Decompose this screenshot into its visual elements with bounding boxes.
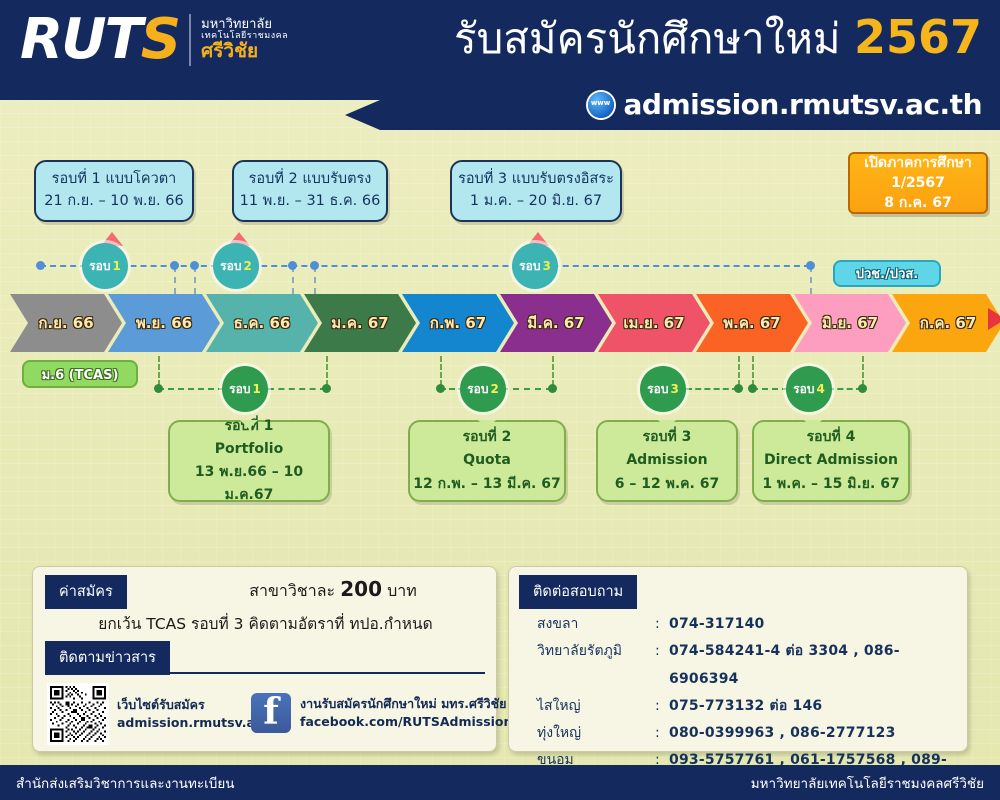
tcas-badge-round-1[interactable]: รอบ1 xyxy=(222,366,268,412)
timeline-month-7[interactable]: เม.ย. 67 xyxy=(598,294,710,352)
top-round-3-dates: 1 ม.ค. – 20 มิ.ย. 67 xyxy=(470,191,602,213)
tcas-3-dates: 6 – 12 พ.ค. 67 xyxy=(615,473,719,496)
contact-value: 075-773132 ต่อ 146 xyxy=(669,693,822,720)
tcas-box-round-1[interactable]: รอบที่ 1 Portfolio 13 พ.ย.66 – 10 ม.ค.67 xyxy=(168,420,330,502)
contact-name: วิทยาลัยรัตภูมิ xyxy=(537,638,655,693)
connector-dot-c xyxy=(288,261,297,270)
contact-name: ไสใหญ่ xyxy=(537,693,655,720)
timeline-month-label: มิ.ย. 67 xyxy=(822,311,878,335)
top-round-box-2[interactable]: รอบที่ 2 แบบรับตรง 11 พ.ย. – 31 ธ.ค. 66 xyxy=(232,160,388,222)
timeline-month-6[interactable]: มี.ค. 67 xyxy=(500,294,612,352)
tcas-badge-4-num: 4 xyxy=(816,382,824,396)
fee-line-post: บาท xyxy=(387,581,417,600)
timeline-badge-round-2[interactable]: รอบ2 xyxy=(213,243,259,289)
tcas-4-dates: 1 พ.ค. – 15 มิ.ย. 67 xyxy=(762,473,899,496)
lower-dot-2a xyxy=(436,384,445,393)
tcas-badge-4-label: รอบ xyxy=(793,380,814,399)
badge-3-num: 3 xyxy=(542,259,550,273)
month-timeline: ก.ย. 66พ.ย. 66ธ.ค. 66ม.ค. 67ก.พ. 67มี.ค.… xyxy=(10,294,990,352)
timeline-month-10[interactable]: ก.ค. 67 xyxy=(892,294,1000,352)
contact-row: ทุ่งใหญ่:080-0399963 , 086-2777123 xyxy=(537,720,957,747)
timeline-month-label: ก.ย. 66 xyxy=(38,311,93,335)
logo-wordmark: RUTS xyxy=(20,12,179,68)
fee-note: ยกเว้น TCAS รอบที่ 3 คิดตามอัตราที่ ทปอ.… xyxy=(43,611,488,636)
footer-bar: สำนักส่งเสริมวิชาการและงานทะเบียน มหาวิท… xyxy=(0,765,1000,800)
connector-drop-c xyxy=(292,266,294,294)
contact-row: ไสใหญ่:075-773132 ต่อ 146 xyxy=(537,693,957,720)
upper-connector-line xyxy=(40,265,810,267)
tcas-box-round-2[interactable]: รอบที่ 2 Quota 12 ก.พ. – 13 มี.ค. 67 xyxy=(408,420,566,502)
lower-drop-2b xyxy=(552,356,554,386)
notch-icon-3 xyxy=(658,420,676,429)
timeline-month-1[interactable]: ก.ย. 66 xyxy=(10,294,122,352)
tcas-box-round-4[interactable]: รอบที่ 4 Direct Admission 1 พ.ค. – 15 มิ… xyxy=(752,420,910,502)
news-divider xyxy=(45,672,485,674)
lower-dot-2b xyxy=(548,384,557,393)
connector-drop-b xyxy=(194,266,196,294)
semester-line-1: เปิดภาคการศึกษา xyxy=(864,153,972,173)
timeline-month-label: ม.ค. 67 xyxy=(331,311,388,335)
lower-line-1b xyxy=(268,388,326,390)
top-round-box-3[interactable]: รอบที่ 3 แบบรับตรงอิสระ 1 ม.ค. – 20 มิ.ย… xyxy=(450,160,622,222)
university-logo: RUTS มหาวิทยาลัย เทคโนโลยีราชมงคล ศรีวิช… xyxy=(20,12,288,68)
tcas-1-name: Portfolio xyxy=(215,438,283,461)
badge-1-num: 1 xyxy=(112,259,120,273)
tcas-3-title: รอบที่ 3 xyxy=(643,426,692,449)
lower-drop-1a xyxy=(158,356,160,386)
top-round-1-title: รอบที่ 1 แบบโควตา xyxy=(52,169,177,191)
semester-open-box[interactable]: เปิดภาคการศึกษา 1/2567 8 ก.ค. 67 xyxy=(848,152,988,214)
tcas-4-title: รอบที่ 4 xyxy=(807,426,856,449)
connector-dot-end xyxy=(806,261,815,270)
tcas-badge-1-label: รอบ xyxy=(229,380,250,399)
lower-dot-3a xyxy=(734,384,743,393)
tag-m6-tcas[interactable]: ม.6 (TCAS) xyxy=(22,360,138,388)
page-title: รับสมัครนักศึกษาใหม่ 2567 xyxy=(454,14,982,60)
top-round-3-title: รอบที่ 3 แบบรับตรงอิสระ xyxy=(458,169,614,191)
tcas-box-round-3[interactable]: รอบที่ 3 Admission 6 – 12 พ.ค. 67 xyxy=(596,420,738,502)
lower-dot-1a xyxy=(154,384,163,393)
lower-drop-1b xyxy=(326,356,328,386)
connector-drop-d xyxy=(314,266,316,294)
contact-colon: : xyxy=(655,693,669,720)
semester-line-2: 1/2567 xyxy=(891,173,945,193)
logo-thai-line-3: ศรีวิชัย xyxy=(201,42,288,62)
semester-line-3: 8 ก.ค. 67 xyxy=(884,193,951,213)
timeline-badge-round-3[interactable]: รอบ3 xyxy=(512,243,558,289)
fee-and-news-panel: ค่าสมัคร สาขาวิชาละ 200 บาท ยกเว้น TCAS … xyxy=(32,566,497,752)
tcas-badge-3-label: รอบ xyxy=(647,380,668,399)
lower-drop-4a xyxy=(752,356,754,386)
tcas-2-dates: 12 ก.พ. – 13 มี.ค. 67 xyxy=(413,473,560,496)
contact-value: 074-584241-4 ต่อ 3304 , 086-6906394 xyxy=(669,638,957,693)
tcas-badge-1-num: 1 xyxy=(252,382,260,396)
timeline-month-label: ก.พ. 67 xyxy=(430,311,486,335)
timeline-badge-round-1[interactable]: รอบ1 xyxy=(82,243,128,289)
tcas-badge-round-3[interactable]: รอบ3 xyxy=(640,366,686,412)
page-title-year: 2567 xyxy=(854,10,982,64)
timeline-month-3[interactable]: ธ.ค. 66 xyxy=(206,294,318,352)
contact-row: สงขลา:074-317140 xyxy=(537,611,957,638)
lower-line-4b xyxy=(828,388,862,390)
facebook-block[interactable]: งานรับสมัครนักศึกษาใหม่ มทร.ศรีวิชัย fac… xyxy=(251,693,512,733)
timeline-month-2[interactable]: พ.ย. 66 xyxy=(108,294,220,352)
admission-url[interactable]: admission.rmutsv.ac.th xyxy=(588,88,982,121)
timeline-month-8[interactable]: พ.ค. 67 xyxy=(696,294,808,352)
top-round-2-title: รอบที่ 2 แบบรับตรง xyxy=(249,169,372,191)
contact-row: วิทยาลัยรัตภูมิ:074-584241-4 ต่อ 3304 , … xyxy=(537,638,957,693)
fee-label: ค่าสมัคร xyxy=(45,575,127,609)
top-round-box-1[interactable]: รอบที่ 1 แบบโควตา 21 ก.ย. – 10 พ.ย. 66 xyxy=(34,160,194,222)
lower-line-3a xyxy=(686,388,738,390)
lower-drop-2a xyxy=(440,356,442,386)
notch-icon-4 xyxy=(804,420,822,429)
news-label: ติดตามข่าวสาร xyxy=(45,641,170,675)
contact-name: ทุ่งใหญ่ xyxy=(537,720,655,747)
timeline-month-label: ธ.ค. 66 xyxy=(234,311,291,335)
top-round-2-dates: 11 พ.ย. – 31 ธ.ค. 66 xyxy=(240,191,381,213)
facebook-icon xyxy=(251,693,291,733)
contact-colon: : xyxy=(655,720,669,747)
connector-dot-start xyxy=(36,261,45,270)
connector-dot-b xyxy=(190,261,199,270)
contact-label: ติดต่อสอบถาม xyxy=(519,575,637,609)
globe-www-icon xyxy=(588,92,614,118)
notch-icon-2 xyxy=(478,420,496,429)
connector-drop-a xyxy=(174,266,176,294)
badge-3-label: รอบ xyxy=(519,257,540,276)
connector-drop-e xyxy=(810,266,812,294)
timeline-month-label: พ.ค. 67 xyxy=(723,311,780,335)
lower-drop-4b xyxy=(862,356,864,386)
tcas-badge-round-4[interactable]: รอบ4 xyxy=(786,366,832,412)
timeline-month-label: มี.ค. 67 xyxy=(527,311,584,335)
fee-line-pre: สาขาวิชาละ xyxy=(249,581,335,600)
timeline-month-9[interactable]: มิ.ย. 67 xyxy=(794,294,906,352)
footer-right-text: มหาวิทยาลัยเทคโนโลยีราชมงคลศรีวิชัย xyxy=(751,772,984,794)
connector-dot-d xyxy=(310,261,319,270)
timeline-month-label: พ.ย. 66 xyxy=(136,311,192,335)
facebook-caption-line-1: งานรับสมัครนักศึกษาใหม่ มทร.ศรีวิชัย xyxy=(300,695,512,713)
lower-dot-4a xyxy=(748,384,757,393)
timeline-month-5[interactable]: ก.พ. 67 xyxy=(402,294,514,352)
contact-colon: : xyxy=(655,611,669,638)
top-round-1-dates: 21 ก.ย. – 10 พ.ย. 66 xyxy=(44,191,183,213)
logo-thai-text: มหาวิทยาลัย เทคโนโลยีราชมงคล ศรีวิชัย xyxy=(201,18,288,61)
notch-icon-1 xyxy=(240,420,258,429)
badge-2-num: 2 xyxy=(243,259,251,273)
tcas-2-title: รอบที่ 2 xyxy=(463,426,512,449)
fee-amount: 200 xyxy=(340,577,382,601)
logo-divider xyxy=(189,14,191,66)
contact-colon: : xyxy=(655,638,669,693)
lower-line-4a xyxy=(752,388,788,390)
qr-code-icon xyxy=(47,683,109,745)
tcas-badge-2-label: รอบ xyxy=(467,380,488,399)
poster-canvas: RUTS มหาวิทยาลัย เทคโนโลยีราชมงคล ศรีวิช… xyxy=(0,0,1000,800)
tcas-badge-2-num: 2 xyxy=(490,382,498,396)
lower-dot-1b xyxy=(322,384,331,393)
tcas-4-name: Direct Admission xyxy=(764,449,898,472)
tcas-badge-3-num: 3 xyxy=(670,382,678,396)
admission-url-text: admission.rmutsv.ac.th xyxy=(624,88,982,121)
tcas-badge-round-2[interactable]: รอบ2 xyxy=(460,366,506,412)
badge-2-label: รอบ xyxy=(220,257,241,276)
timeline-month-4[interactable]: ม.ค. 67 xyxy=(304,294,416,352)
qr-block[interactable]: เว็บไซต์รับสมัคร admission.rmutsv.ac.th xyxy=(47,683,282,745)
timeline-month-label: เม.ย. 67 xyxy=(623,311,684,335)
tcas-2-name: Quota xyxy=(463,449,511,472)
connector-dot-a xyxy=(170,261,179,270)
footer-left-text: สำนักส่งเสริมวิชาการและงานทะเบียน xyxy=(16,772,235,794)
tag-vocational[interactable]: ปวช./ปวส. xyxy=(833,260,941,287)
page-title-text: รับสมัครนักศึกษาใหม่ xyxy=(454,14,841,63)
lower-drop-3a xyxy=(738,356,740,386)
fee-amount-line: สาขาวิชาละ 200 บาท xyxy=(183,577,483,604)
contact-panel: ติดต่อสอบถาม สงขลา:074-317140วิทยาลัยรัต… xyxy=(508,566,968,752)
finish-flag-icon xyxy=(988,308,1000,330)
facebook-caption-line-2: facebook.com/RUTSAdmission xyxy=(300,713,512,731)
timeline-month-label: ก.ค. 67 xyxy=(920,311,977,335)
badge-1-label: รอบ xyxy=(89,257,110,276)
tcas-1-dates: 13 พ.ย.66 – 10 ม.ค.67 xyxy=(170,461,328,507)
lower-line-2b xyxy=(502,388,552,390)
facebook-caption: งานรับสมัครนักศึกษาใหม่ มทร.ศรีวิชัย fac… xyxy=(300,695,512,731)
contact-value: 074-317140 xyxy=(669,611,764,638)
contact-value: 080-0399963 , 086-2777123 xyxy=(669,720,896,747)
tcas-3-name: Admission xyxy=(626,449,707,472)
contact-name: สงขลา xyxy=(537,611,655,638)
lower-dot-4b xyxy=(858,384,867,393)
